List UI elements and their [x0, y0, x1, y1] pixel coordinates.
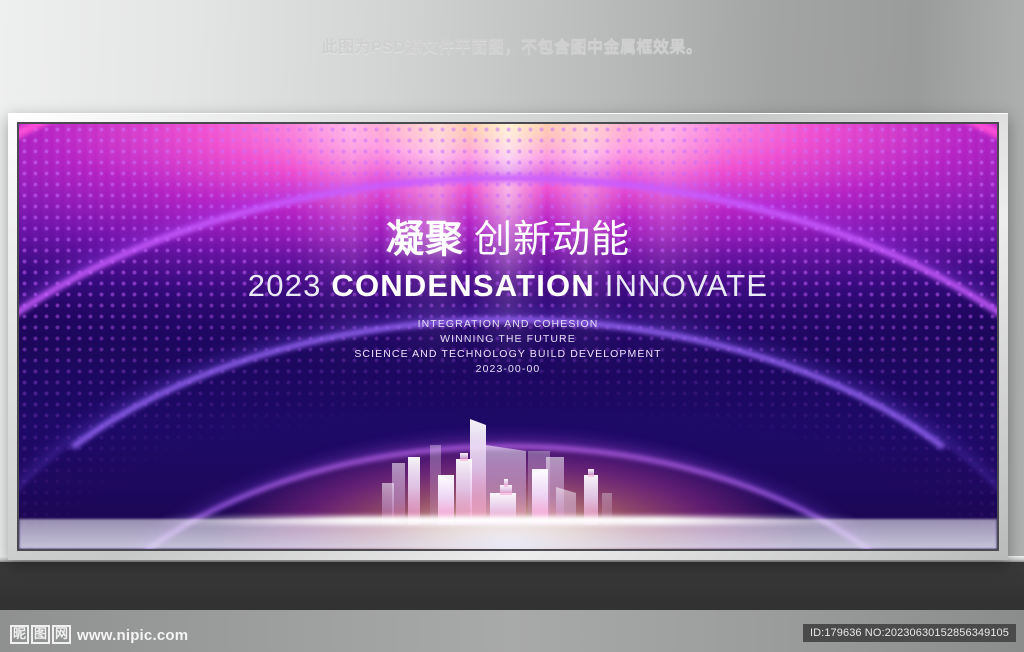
title-cn-bold: 凝聚	[386, 219, 464, 261]
logo-char-2: 图	[31, 625, 50, 644]
subtitle-line-2: WINNING THE FUTURE	[19, 332, 997, 347]
bottom-bar: 昵 图 网 www.nipic.com ID:179636 NO:2023063…	[0, 610, 1024, 652]
screenshot-root: 此图为PSD源文件平面图，不包含图中金属框效果。	[0, 0, 1024, 652]
watermark: 昵 图 网 www.nipic.com	[10, 625, 188, 644]
poster-title-english: 2023 CONDENSATION INNOVATE	[19, 268, 997, 304]
poster-title-chinese: 凝聚创新动能	[19, 220, 997, 262]
poster-floor-reflection	[19, 519, 997, 549]
frame-inner-bevel: 凝聚创新动能 2023 CONDENSATION INNOVATE INTEGR…	[17, 122, 999, 551]
subtitle-date: 2023-00-00	[19, 362, 997, 377]
poster-artwork: 凝聚创新动能 2023 CONDENSATION INNOVATE INTEGR…	[19, 124, 997, 549]
notice-text: 此图为PSD源文件平面图，不包含图中金属框效果。	[0, 33, 1024, 57]
subtitle-line-1: INTEGRATION AND COHESION	[19, 317, 997, 332]
poster-subtitle-block: INTEGRATION AND COHESION WINNING THE FUT…	[19, 317, 997, 377]
logo-char-3: 网	[52, 625, 71, 644]
metal-frame: 凝聚创新动能 2023 CONDENSATION INNOVATE INTEGR…	[8, 113, 1008, 560]
poster-text-block: 凝聚创新动能 2023 CONDENSATION INNOVATE INTEGR…	[19, 220, 997, 377]
title-en-year: 2023	[248, 268, 322, 303]
watermark-url: www.nipic.com	[77, 627, 188, 644]
city-skyline	[378, 407, 638, 525]
title-cn-light: 创新动能	[474, 219, 630, 261]
id-badge: ID:179636 NO:20230630152856349105	[803, 624, 1016, 642]
logo-char-1: 昵	[10, 625, 29, 644]
title-en-light: INNOVATE	[605, 268, 768, 303]
title-en-bold: CONDENSATION	[331, 268, 595, 303]
nipic-logo-icon: 昵 图 网	[10, 625, 71, 644]
subtitle-line-3: SCIENCE AND TECHNOLOGY BUILD DEVELOPMENT	[19, 347, 997, 362]
